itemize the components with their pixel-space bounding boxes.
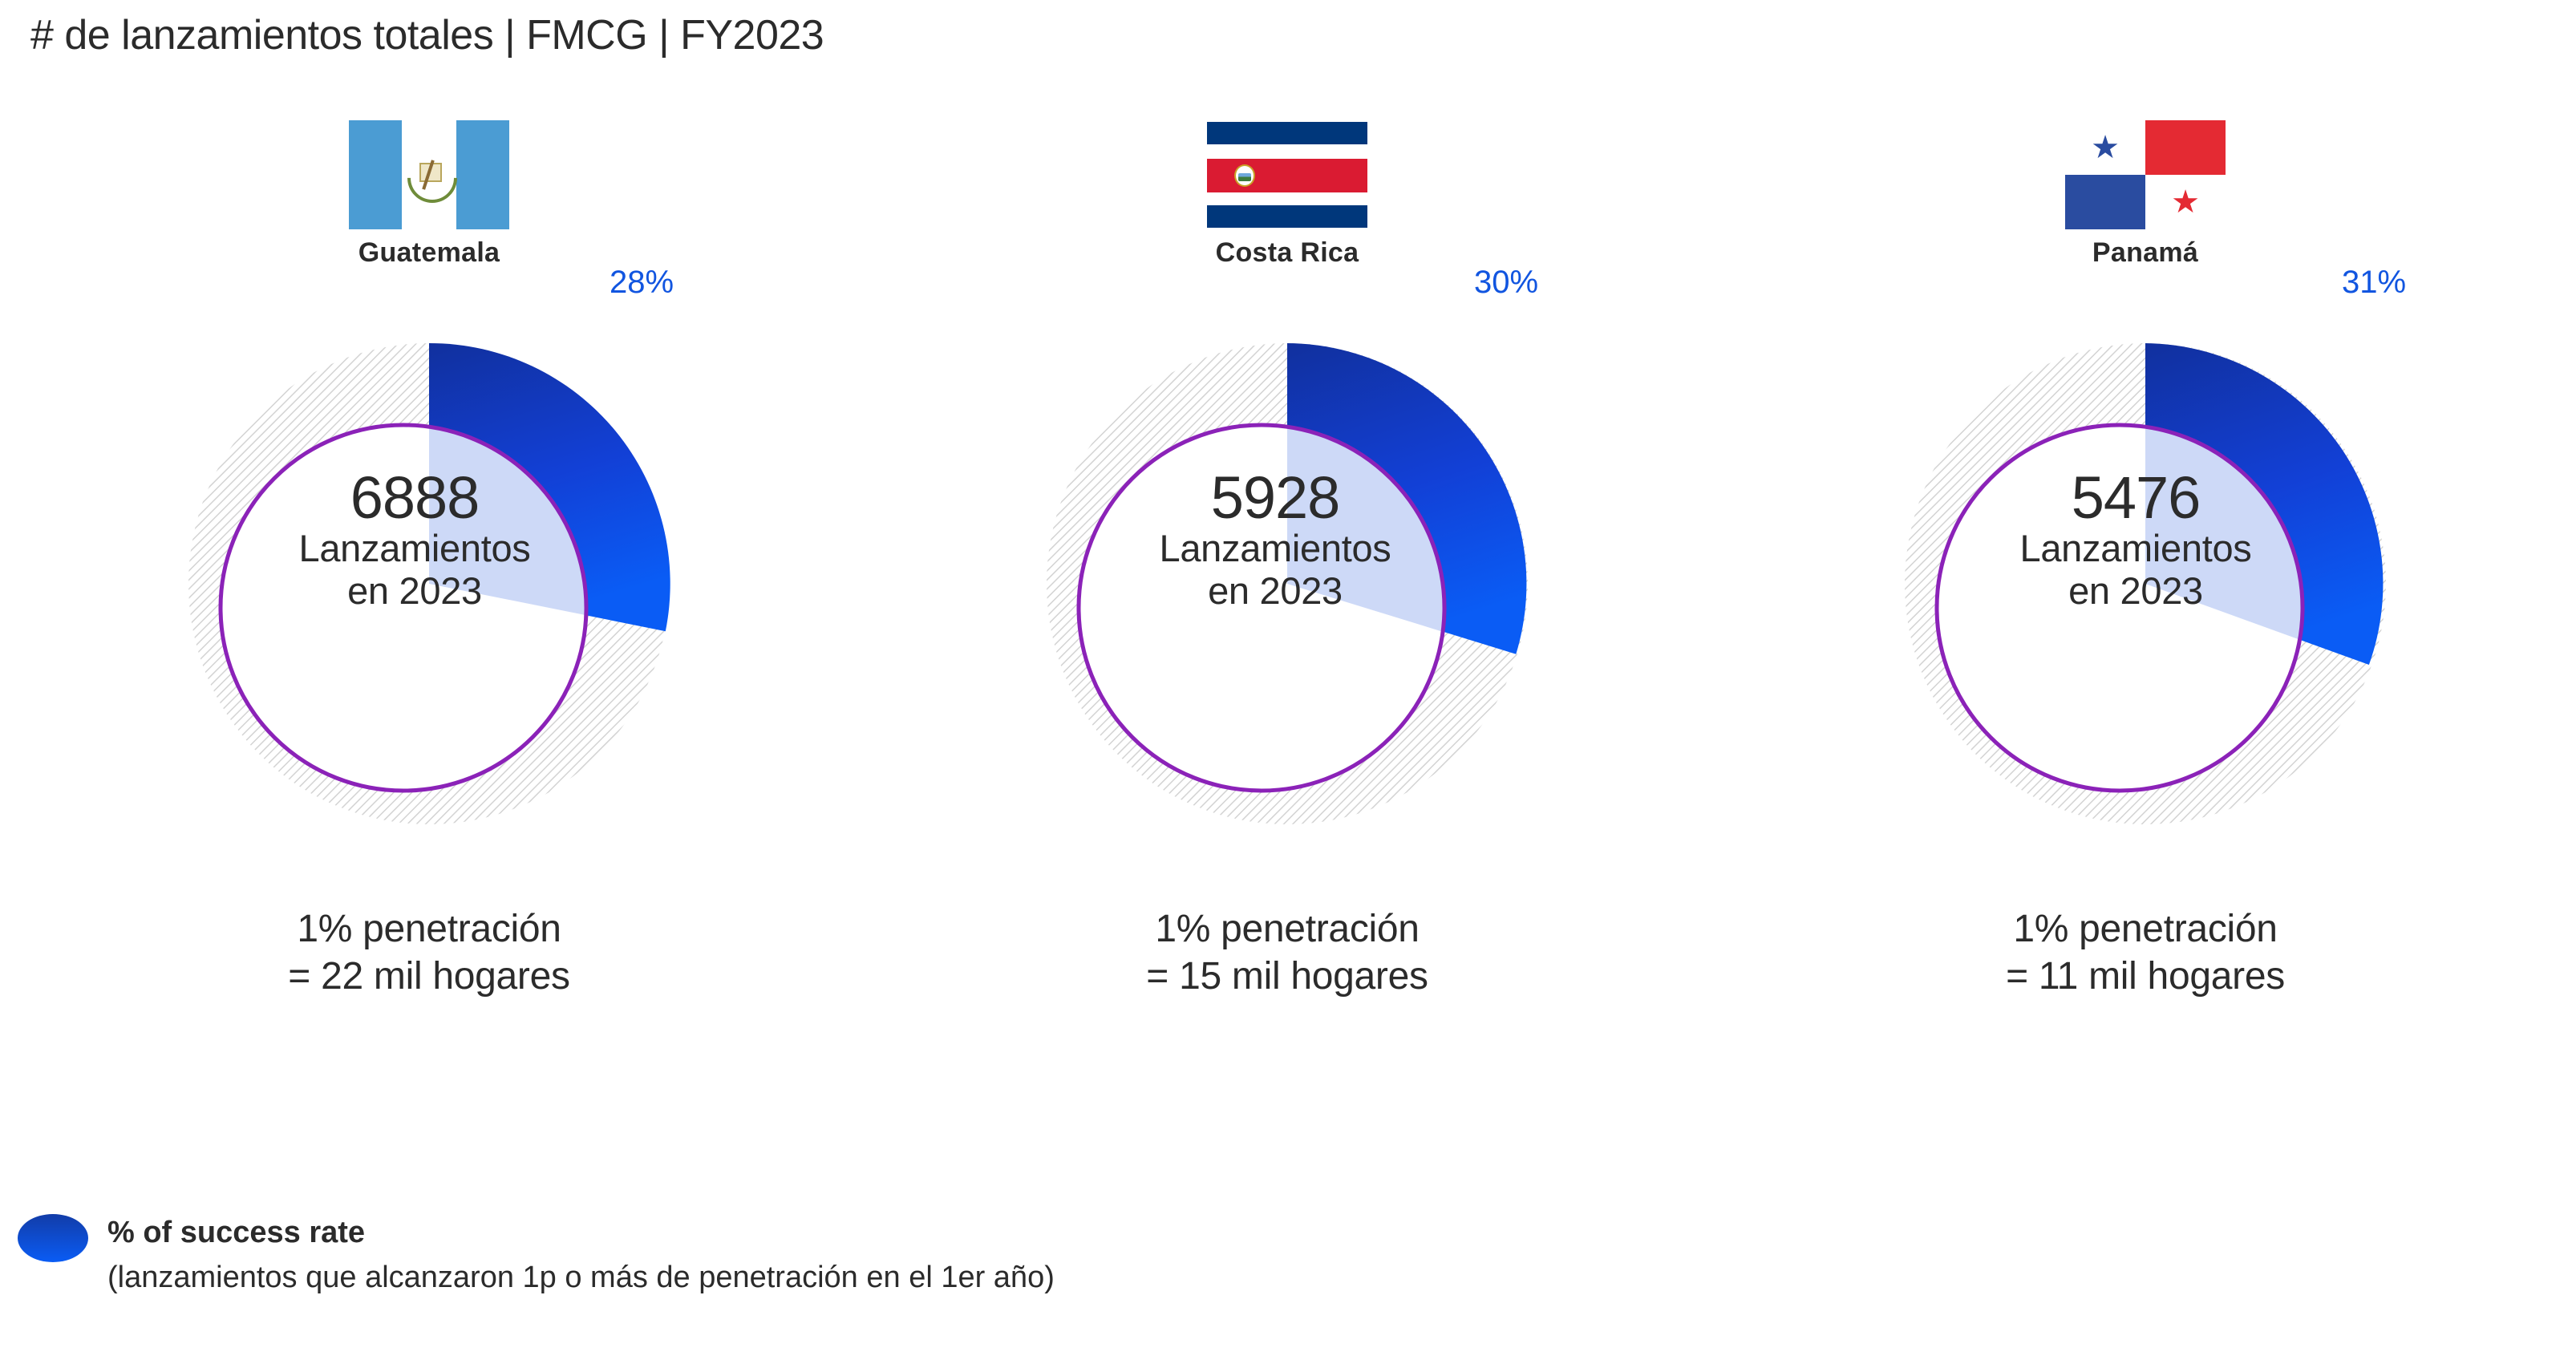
flag-panama-icon: ★ ★: [2065, 120, 2226, 229]
legend: % of success rate (lanzamientos que alca…: [18, 1203, 1782, 1323]
flag-guatemala-icon: [349, 120, 509, 229]
country-panel-guatemala: Guatemala 28%: [0, 120, 858, 1067]
flag-band-right: [456, 120, 509, 229]
red-star-icon: ★: [2171, 186, 2200, 218]
penetration-footnote: 1% penetración = 22 mil hogares: [0, 906, 858, 1000]
donut-svg: [1007, 311, 1568, 872]
donut-chart-panama: 5476 Lanzamientos en 2023: [1865, 311, 2426, 872]
success-rate-pct-label: 31%: [2342, 265, 2406, 301]
penetration-footnote: 1% penetración = 15 mil hogares: [858, 906, 1716, 1000]
success-rate-pct-label: 28%: [610, 265, 674, 301]
costa-rica-coat-of-arms-icon: [1234, 164, 1255, 187]
donut-svg: [1865, 311, 2426, 872]
country-panel-costa-rica: Costa Rica 30%: [858, 120, 1716, 1067]
penetration-line-2: = 22 mil hogares: [0, 953, 858, 1001]
country-name-label: Panamá: [1716, 237, 2574, 269]
penetration-footnote: 1% penetración = 11 mil hogares: [1716, 906, 2574, 1000]
penetration-line-1: 1% penetración: [858, 906, 1716, 953]
donut-chart-costa-rica: 5928 Lanzamientos en 2023: [1007, 311, 1568, 872]
penetration-line-2: = 11 mil hogares: [1716, 953, 2574, 1001]
flag-band-left: [349, 120, 402, 229]
penetration-line-2: = 15 mil hogares: [858, 953, 1716, 1001]
donut-chart-guatemala: 6888 Lanzamientos en 2023: [148, 311, 710, 872]
donut-svg: [148, 311, 710, 872]
success-rate-pct-label: 30%: [1474, 265, 1538, 301]
flag-stripe-blue-bottom: [1207, 205, 1367, 228]
legend-title: % of success rate: [107, 1216, 365, 1250]
blue-ellipse-icon: [18, 1214, 88, 1262]
flag-quadrant-red-top-right: [2145, 120, 2226, 175]
flag-costa-rica-icon: [1207, 120, 1367, 229]
penetration-line-1: 1% penetración: [0, 906, 858, 953]
page-title: # de lanzamientos totales | FMCG | FY202…: [30, 11, 824, 59]
legend-subtitle: (lanzamientos que alcanzaron 1p o más de…: [107, 1261, 1055, 1295]
guatemala-coat-of-arms-icon: [407, 153, 451, 196]
penetration-line-1: 1% penetración: [1716, 906, 2574, 953]
country-name-label: Guatemala: [0, 237, 858, 269]
blue-star-icon: ★: [2091, 132, 2120, 164]
country-name-label: Costa Rica: [858, 237, 1716, 269]
country-panel-panama: ★ ★ Panamá 31%: [1716, 120, 2574, 1067]
flag-quadrant-blue-bottom-left: [2065, 175, 2145, 229]
flag-stripe-red: [1207, 159, 1367, 192]
flag-stripe-blue-top: [1207, 122, 1367, 144]
